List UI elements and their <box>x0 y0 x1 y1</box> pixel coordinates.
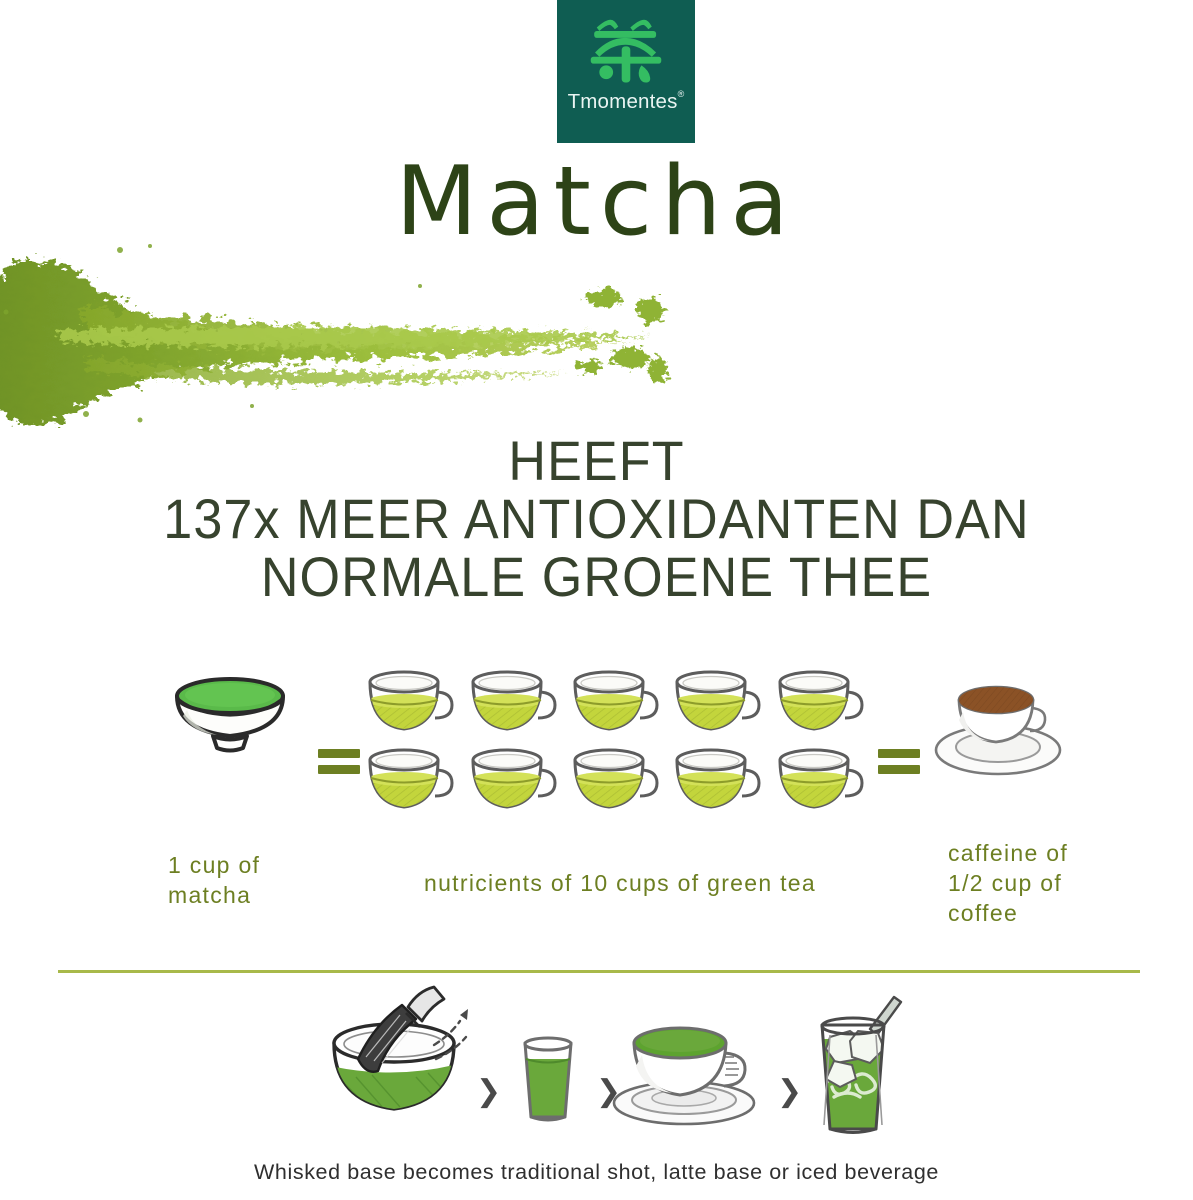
process-step-whisked-base <box>322 985 487 1140</box>
equals-bar-bottom <box>318 765 360 774</box>
matcha-powder-splash <box>0 238 690 428</box>
green-tea-cup-icon <box>466 746 562 818</box>
brand-name-text: Tmomentes <box>568 90 678 113</box>
process-caption: Whisked base becomes traditional shot, l… <box>0 1160 1193 1185</box>
process-step-iced-beverage <box>800 991 910 1142</box>
coffee-label-line-1: caffeine of <box>948 838 1158 868</box>
process-separator-3: ❯ <box>777 1077 802 1107</box>
comparison-section: 1 cup of matcha nutricients of 10 cups o… <box>0 660 1193 950</box>
green-tea-cup-icon <box>363 746 459 818</box>
matcha-whisk-bowl-icon <box>322 985 487 1135</box>
headline: HEEFT 137x MEER ANTIOXIDANTEN DAN NORMAL… <box>42 432 1151 606</box>
equals-sign-caffeine <box>878 742 920 781</box>
section-divider <box>58 970 1140 973</box>
brand-wordmark: Tmomentes® <box>568 90 685 114</box>
process-section <box>0 985 1193 1150</box>
green-tea-cup-icon <box>363 668 459 740</box>
headline-line-1: HEEFT <box>42 432 1151 490</box>
matcha-label: 1 cup of matcha <box>168 850 388 910</box>
green-tea-cup-icon <box>670 746 766 818</box>
matcha-label-line-1: 1 cup of <box>168 850 388 880</box>
headline-line-2: 137x MEER ANTIOXIDANTEN DAN <box>42 490 1151 548</box>
latte-cup-icon <box>608 1005 768 1130</box>
headline-line-3: NORMALE GROENE THEE <box>42 548 1151 606</box>
green-tea-cup-icon <box>466 668 562 740</box>
iced-beverage-glass-icon <box>800 991 910 1137</box>
green-tea-label: nutricients of 10 cups of green tea <box>360 868 880 898</box>
coffee-label-line-2: 1/2 cup of <box>948 868 1158 898</box>
process-step-latte-base <box>608 1005 768 1135</box>
coffee-label-line-3: coffee <box>948 898 1158 928</box>
green-tea-cups-grid <box>360 668 872 824</box>
green-tea-cup-icon <box>670 668 766 740</box>
green-tea-cup-icon <box>773 668 869 740</box>
equals-bar-bottom <box>878 765 920 774</box>
matcha-bowl-icon <box>169 670 291 762</box>
green-tea-cup-icon <box>568 668 664 740</box>
equals-bar-top <box>318 749 360 758</box>
equals-bar-top <box>878 749 920 758</box>
process-separator-2: ❯ <box>596 1077 621 1107</box>
shot-glass-icon <box>512 1033 584 1129</box>
equals-sign-nutrients <box>318 742 360 781</box>
matcha-label-line-2: matcha <box>168 880 388 910</box>
process-separator-1: ❯ <box>476 1077 501 1107</box>
coffee-label: caffeine of 1/2 cup of coffee <box>948 838 1158 928</box>
brand-logo-badge: Tmomentes® <box>557 0 695 143</box>
tea-character-icon <box>583 12 669 86</box>
matcha-serving <box>150 670 310 762</box>
green-tea-cup-icon <box>773 746 869 818</box>
registered-mark: ® <box>678 89 685 99</box>
page-title: Matcha <box>0 155 1193 250</box>
process-step-traditional-shot <box>512 1033 584 1134</box>
coffee-serving <box>930 674 1080 787</box>
green-tea-cup-icon <box>568 746 664 818</box>
coffee-cup-icon <box>930 674 1070 782</box>
